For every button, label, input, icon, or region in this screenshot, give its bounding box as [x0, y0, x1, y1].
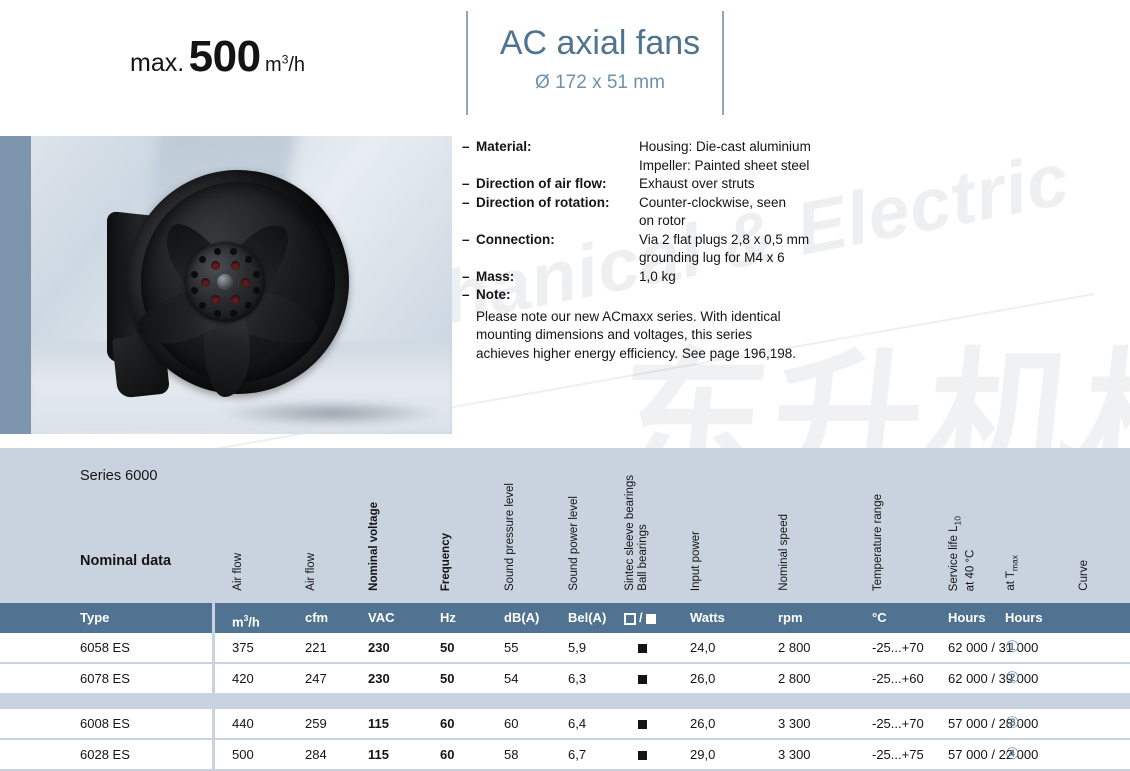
column-rotated-label: Air flow	[232, 553, 244, 591]
spec-value-line: Via 2 flat plugs 2,8 x 0,5 mm	[639, 231, 882, 250]
table-cell-watts: 26,0	[690, 664, 715, 693]
spec-row: –Connection:Via 2 flat plugs 2,8 x 0,5 m…	[462, 231, 882, 268]
banner-divider-right	[722, 11, 724, 115]
column-unit-header: Watts	[690, 603, 725, 633]
table-cell-temp: -25...+70	[872, 633, 924, 662]
fan-drop-shadow	[223, 400, 438, 426]
spec-value-line: Exhaust over struts	[639, 175, 882, 194]
page-subtitle: Ø 172 x 51 mm	[480, 72, 720, 94]
table-cell-airflow_m3h: 440	[232, 709, 254, 738]
table-cell-rpm: 3 300	[778, 740, 811, 769]
curve-number: ②	[1005, 670, 1019, 687]
max-airflow-callout: max. 500 m3/h	[130, 32, 305, 82]
hub-vent-slot	[253, 287, 260, 294]
column-unit-header: Hz	[440, 603, 456, 633]
column-rotated-label: Frequency	[440, 533, 452, 591]
table-cell-frequency: 60	[440, 709, 454, 738]
fan-hub-center	[217, 274, 233, 290]
table-row[interactable]: 6078 ES42024723050546,326,02 800-25...+6…	[0, 664, 1130, 695]
column-unit-header: Hours	[948, 603, 986, 633]
table-cell-airflow_m3h: 500	[232, 740, 254, 769]
table-cell-watts: 29,0	[690, 740, 715, 769]
page-title: AC axial fans	[480, 22, 720, 64]
specification-table: Series 6000 Nominal data Air flowAir flo…	[0, 448, 1130, 771]
table-cell-rpm: 2 800	[778, 633, 811, 662]
hub-bolt-hole	[231, 261, 240, 270]
specification-list: –Material:Housing: Die-cast aluminiumImp…	[462, 138, 882, 363]
row-column-divider	[212, 740, 215, 769]
table-cell-voltage: 115	[368, 709, 389, 738]
table-cell-voltage: 230	[368, 633, 390, 662]
spec-key: Direction of air flow:	[476, 175, 639, 194]
top-banner: max. 500 m3/h AC axial fans Ø 172 x 51 m…	[0, 0, 1130, 130]
spec-value-line: Counter-clockwise, seen	[639, 194, 882, 213]
column-unit-header: dB(A)	[504, 603, 539, 633]
table-cell-airflow_cfm: 221	[305, 633, 327, 662]
curve-number: ③	[1005, 715, 1019, 732]
max-unit: m3/h	[265, 54, 305, 76]
spec-note-text: Please note our new ACmaxx series. With …	[476, 308, 882, 364]
column-rotated-label: Sound power level	[568, 496, 580, 591]
table-cell-life: 57 000 / 28 000	[948, 709, 1038, 738]
column-unit-header: °C	[872, 603, 887, 633]
column-unit-header: cfm	[305, 603, 328, 633]
table-cell-bearing	[638, 664, 647, 693]
curve-number: ①	[1005, 639, 1019, 656]
table-cell-bearing	[638, 709, 647, 738]
table-cell-curve: ②	[1005, 664, 1019, 693]
spec-dash: –	[462, 286, 476, 305]
banner-divider-left	[466, 11, 468, 115]
table-cell-life: 62 000 / 31 000	[948, 633, 1038, 662]
table-cell-watts: 26,0	[690, 709, 715, 738]
column-unit-header: m3/h	[232, 603, 260, 633]
table-group-separator	[0, 695, 1130, 709]
column-rotated-label-line: Sintec sleeve bearings	[624, 475, 637, 591]
table-cell-watts: 24,0	[690, 633, 715, 662]
hub-bolt-hole	[211, 295, 220, 304]
ball-bearing-icon	[638, 644, 647, 653]
column-rotated-label: Curve	[1078, 560, 1090, 591]
product-title-block: AC axial fans Ø 172 x 51 mm	[480, 22, 720, 94]
hub-bolt-hole	[211, 261, 220, 270]
table-cell-bearing	[638, 740, 647, 769]
table-cell-airflow_cfm: 259	[305, 709, 327, 738]
hub-vent-slot	[245, 256, 252, 263]
spec-dash: –	[462, 231, 476, 250]
column-rotated-label: Nominal voltage	[368, 502, 380, 591]
table-cell-type: 6078 ES	[80, 664, 130, 693]
table-cell-curve: ③	[1005, 709, 1019, 738]
spec-key: Connection:	[476, 231, 639, 250]
spec-dash: –	[462, 268, 476, 287]
curve-number: ④	[1005, 746, 1019, 763]
table-cell-type: 6058 ES	[80, 633, 130, 662]
column-rotated-label: Nominal speed	[778, 514, 790, 591]
column-unit-header: Type	[80, 603, 109, 633]
table-cell-voltage: 115	[368, 740, 389, 769]
table-cell-airflow_cfm: 284	[305, 740, 327, 769]
column-rotated-label-line: Ball bearings	[637, 475, 650, 591]
table-cell-curve: ①	[1005, 633, 1019, 662]
hub-vent-slot	[199, 256, 206, 263]
column-rotated-label: Sound pressure level	[504, 483, 516, 591]
hub-vent-slot	[191, 271, 198, 278]
table-cell-airflow_cfm: 247	[305, 664, 327, 693]
table-cell-frequency: 50	[440, 633, 454, 662]
column-unit-header: VAC	[368, 603, 394, 633]
column-rotated-label: Input power	[690, 531, 702, 591]
column-rotated-label: Air flow	[305, 553, 317, 591]
column-rotated-label: Service life L10at 40 °C	[948, 516, 977, 591]
table-cell-spl: 60	[504, 709, 518, 738]
column-rotated-label-line: at 40 °C	[964, 516, 977, 591]
row-column-divider	[212, 709, 215, 738]
spec-value: Counter-clockwise, seenon rotor	[639, 194, 882, 231]
spec-row: –Direction of air flow:Exhaust over stru…	[462, 175, 882, 194]
series-label: Series 6000	[80, 468, 157, 484]
table-cell-spl: 54	[504, 664, 518, 693]
table-cell-temp: -25...+60	[872, 664, 924, 693]
spec-value: 1,0 kg	[639, 268, 882, 287]
column-unit-header: /	[624, 603, 656, 633]
table-cell-spl: 55	[504, 633, 518, 662]
spec-value: Housing: Die-cast aluminiumImpeller: Pai…	[639, 138, 882, 175]
spec-note-line: Please note our new ACmaxx series. With …	[476, 308, 882, 327]
hub-bolt-hole	[231, 295, 240, 304]
spec-key: Material:	[476, 138, 639, 157]
table-cell-pwl: 6,3	[568, 664, 586, 693]
nominal-data-label: Nominal data	[80, 553, 171, 569]
column-unit-header: Hours	[1005, 603, 1043, 633]
spec-row: –Note:	[462, 286, 882, 305]
hub-vent-slot	[253, 271, 260, 278]
table-cell-airflow_m3h: 375	[232, 633, 254, 662]
hub-vent-slot	[214, 248, 221, 255]
column-rotated-label-line: Service life L10	[948, 516, 964, 591]
spec-dash: –	[462, 194, 476, 213]
spec-note-line: achieves higher energy efficiency. See p…	[476, 345, 882, 364]
table-cell-temp: -25...+70	[872, 709, 924, 738]
table-header-rotated-labels: Series 6000 Nominal data Air flowAir flo…	[0, 448, 1130, 603]
table-cell-pwl: 5,9	[568, 633, 586, 662]
spec-value-line: on rotor	[639, 212, 882, 231]
table-cell-voltage: 230	[368, 664, 390, 693]
photo-left-color-strip	[0, 136, 31, 434]
table-cell-life: 62 000 / 39 000	[948, 664, 1038, 693]
table-cell-airflow_m3h: 420	[232, 664, 254, 693]
table-cell-rpm: 3 300	[778, 709, 811, 738]
table-row[interactable]: 6058 ES37522123050555,924,02 800-25...+7…	[0, 633, 1130, 664]
ball-bearing-icon	[646, 614, 656, 624]
column-rotated-label: at Tmax	[1005, 555, 1020, 591]
table-cell-type: 6028 ES	[80, 740, 130, 769]
table-cell-frequency: 60	[440, 740, 454, 769]
spec-value: Exhaust over struts	[639, 175, 882, 194]
table-cell-spl: 58	[504, 740, 518, 769]
table-row[interactable]: 6028 ES50028411560586,729,03 300-25...+7…	[0, 740, 1130, 771]
spec-key: Note:	[476, 286, 639, 305]
spec-row: –Direction of rotation:Counter-clockwise…	[462, 194, 882, 231]
row-column-divider	[212, 664, 215, 693]
table-cell-temp: -25...+75	[872, 740, 924, 769]
table-cell-type: 6008 ES	[80, 709, 130, 738]
fan-illustration	[105, 168, 350, 396]
spec-value-line: Impeller: Painted sheet steel	[639, 157, 882, 176]
row-column-divider	[212, 633, 215, 662]
max-value: 500	[189, 32, 261, 81]
table-cell-curve: ④	[1005, 740, 1019, 769]
hub-vent-slot	[230, 248, 237, 255]
ball-bearing-icon	[638, 675, 647, 684]
spec-dash: –	[462, 175, 476, 194]
table-body: 6058 ES37522123050555,924,02 800-25...+7…	[0, 633, 1130, 771]
column-unit-header: rpm	[778, 603, 803, 633]
spec-key: Mass:	[476, 268, 639, 287]
table-cell-bearing	[638, 633, 647, 662]
hub-vent-slot	[199, 302, 206, 309]
spec-value: Via 2 flat plugs 2,8 x 0,5 mmgrounding l…	[639, 231, 882, 268]
column-rotated-label: Temperature range	[872, 494, 884, 591]
hub-vent-slot	[230, 310, 237, 317]
table-unit-header-row: Typem3/hcfmVACHzdB(A)Bel(A)/Wattsrpm°CHo…	[0, 603, 1130, 633]
table-cell-life: 57 000 / 22 000	[948, 740, 1038, 769]
spec-note-line: mounting dimensions and voltages, this s…	[476, 326, 882, 345]
max-label: max.	[130, 49, 184, 77]
spec-value-line: grounding lug for M4 x 6	[639, 249, 882, 268]
spec-row: –Material:Housing: Die-cast aluminiumImp…	[462, 138, 882, 175]
spec-key: Direction of rotation:	[476, 194, 639, 213]
hub-vent-slot	[214, 310, 221, 317]
subheader-column-divider	[212, 603, 215, 633]
hub-vent-slot	[191, 287, 198, 294]
hub-bolt-hole	[241, 278, 250, 287]
product-photo	[0, 136, 452, 434]
table-cell-rpm: 2 800	[778, 664, 811, 693]
table-cell-pwl: 6,7	[568, 740, 586, 769]
spec-value-line: Housing: Die-cast aluminium	[639, 138, 882, 157]
ball-bearing-icon	[638, 720, 647, 729]
table-cell-frequency: 50	[440, 664, 454, 693]
hub-vent-slot	[245, 302, 252, 309]
column-rotated-label: Sintec sleeve bearingsBall bearings	[624, 475, 650, 591]
spec-row: –Mass:1,0 kg	[462, 268, 882, 287]
column-unit-header: Bel(A)	[568, 603, 606, 633]
spec-dash: –	[462, 138, 476, 157]
sleeve-bearing-icon	[624, 613, 636, 625]
table-cell-pwl: 6,4	[568, 709, 586, 738]
fan-hub	[185, 242, 265, 322]
table-row[interactable]: 6008 ES44025911560606,426,03 300-25...+7…	[0, 709, 1130, 740]
hub-bolt-hole	[201, 278, 210, 287]
ball-bearing-icon	[638, 751, 647, 760]
spec-value-line: 1,0 kg	[639, 268, 882, 287]
